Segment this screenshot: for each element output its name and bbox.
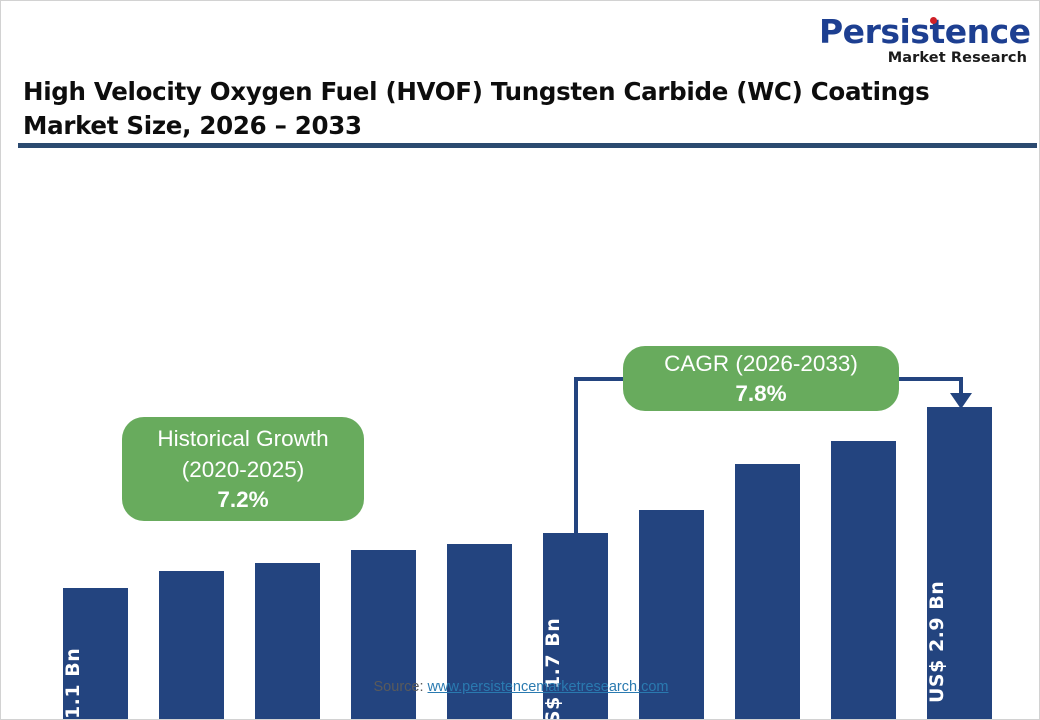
callout-historical-growth: Historical Growth (2020-2025) 7.2% [122,417,364,521]
page-title: High Velocity Oxygen Fuel (HVOF) Tungste… [23,75,1013,143]
source-prefix: Source: [374,679,428,695]
red-dot-icon [930,17,937,24]
bar-2022 [255,563,320,720]
source-link[interactable]: www.persistencemarketresearch.com [428,679,669,695]
logo-tagline: Market Research [819,50,1027,67]
bar-value-label-2026: US$ 1.7 Bn [542,618,564,720]
arrow-down-icon [950,393,972,409]
callout-historical-value: 7.2% [217,485,268,515]
company-logo: Persistence Market Research [819,15,1027,67]
bar-chart: US$ 1.1 Bn US$ 1.7 Bn US$ 2.9 Bn 2020 20… [1,161,1040,671]
title-divider [18,143,1037,148]
callout-historical-line1: Historical Growth [157,423,328,454]
connector-horizontal-right [891,377,963,381]
callout-cagr-value: 7.8% [735,379,786,409]
callout-cagr: CAGR (2026-2033) 7.8% [623,346,899,411]
callout-historical-line2: (2020-2025) [182,454,305,485]
connector-vertical-left [574,379,578,539]
logo-wordmark: Persistence [819,15,1027,49]
callout-cagr-line1: CAGR (2026-2033) [664,348,858,379]
bar-2021 [159,571,224,720]
source-note: Source: www.persistencemarketresearch.co… [1,679,1040,695]
chart-page: Persistence Market Research High Velocit… [0,0,1040,720]
